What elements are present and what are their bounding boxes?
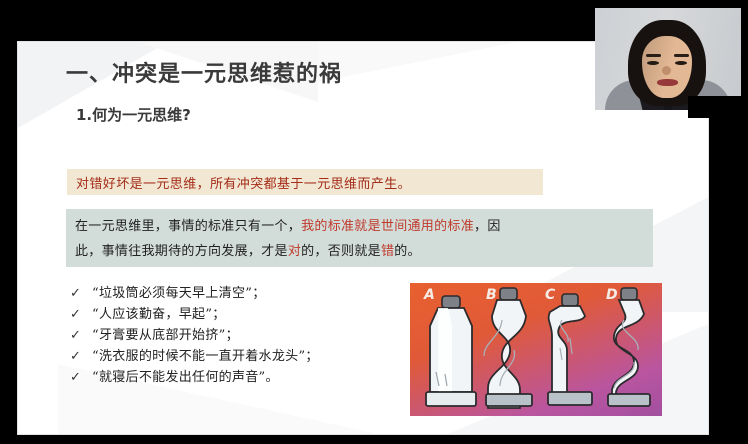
video-letterbox-corner xyxy=(688,96,748,118)
check-icon: ✓ xyxy=(70,307,92,322)
explanation-line-1: 在一元思维里，事情的标准只有一个，我的标准就是世间通用的标准，因 xyxy=(75,214,645,239)
explanation-line2-highlight-right: 对 xyxy=(288,244,301,259)
list-item: ✓ “就寝后不能发出任何的声音”。 xyxy=(70,366,319,387)
tube-b-graphic xyxy=(478,286,540,412)
presenter-nose xyxy=(662,66,671,75)
check-icon: ✓ xyxy=(70,286,92,301)
explanation-line2-pre: 此，事情往我期待的方向发展，才是 xyxy=(75,244,288,259)
list-item: ✓ “牙膏要从底部开始挤”； xyxy=(70,324,319,345)
check-icon: ✓ xyxy=(70,328,92,343)
explanation-line-2: 此，事情往我期待的方向发展，才是对的，否则就是错的。 xyxy=(75,239,645,264)
presenter-eye-right xyxy=(675,61,687,65)
explanation-line1-pre: 在一元思维里，事情的标准只有一个， xyxy=(75,219,301,234)
key-statement-box: 对错好坏是一元思维，所有冲突都基于一元思维而产生。 xyxy=(67,169,543,195)
list-item-label: “洗衣服的时候不能一直开着水龙头”； xyxy=(92,345,319,364)
list-item-label: “就寝后不能发出任何的声音”。 xyxy=(92,366,279,385)
list-item-label: “垃圾筒必须每天早上清空”； xyxy=(92,282,266,301)
explanation-line2-highlight-wrong: 错 xyxy=(381,244,394,259)
explanation-line2-post: 的。 xyxy=(394,244,421,259)
explanation-line1-highlight: 我的标准就是世间通用的标准 xyxy=(301,219,474,234)
presenter-brow-left xyxy=(646,54,661,57)
list-item-label: “牙膏要从底部开始挤”； xyxy=(92,324,239,343)
check-icon: ✓ xyxy=(70,370,92,385)
list-item: ✓ “洗衣服的时候不能一直开着水龙头”； xyxy=(70,345,319,366)
slide-title: 一、冲突是一元思维惹的祸 xyxy=(66,56,342,88)
presenter-eye-left xyxy=(647,61,659,65)
tube-c-graphic xyxy=(540,292,600,412)
slide-subtitle: 1.何为一元思维? xyxy=(76,104,191,125)
check-icon: ✓ xyxy=(70,349,92,364)
presenter-mouth xyxy=(657,79,678,86)
list-item-label: “人应该勤奋，早起”； xyxy=(92,303,226,322)
background-facet-6 xyxy=(318,42,518,82)
tube-d-graphic xyxy=(600,286,658,412)
explanation-line2-mid: 的，否则就是 xyxy=(301,244,381,259)
list-item: ✓ “人应该勤奋，早起”； xyxy=(70,303,319,324)
list-item: ✓ “垃圾筒必须每天早上清空”； xyxy=(70,282,319,303)
example-checklist: ✓ “垃圾筒必须每天早上清空”； ✓ “人应该勤奋，早起”； ✓ “牙膏要从底部… xyxy=(70,282,319,387)
explanation-line1-post: ，因 xyxy=(474,219,501,234)
key-statement-text: 对错好坏是一元思维，所有冲突都基于一元思维而产生。 xyxy=(67,173,411,192)
screen-recording-frame: 一、冲突是一元思维惹的祸 1.何为一元思维? 对错好坏是一元思维，所有冲突都基于… xyxy=(0,0,748,444)
tube-a-graphic xyxy=(418,294,484,412)
explanation-box: 在一元思维里，事情的标准只有一个，我的标准就是世间通用的标准，因 此，事情往我期… xyxy=(66,209,653,267)
presenter-video-feed[interactable] xyxy=(595,8,741,110)
toothpaste-tubes-illustration: A B C D xyxy=(410,283,662,416)
presenter-brow-right xyxy=(674,54,689,57)
